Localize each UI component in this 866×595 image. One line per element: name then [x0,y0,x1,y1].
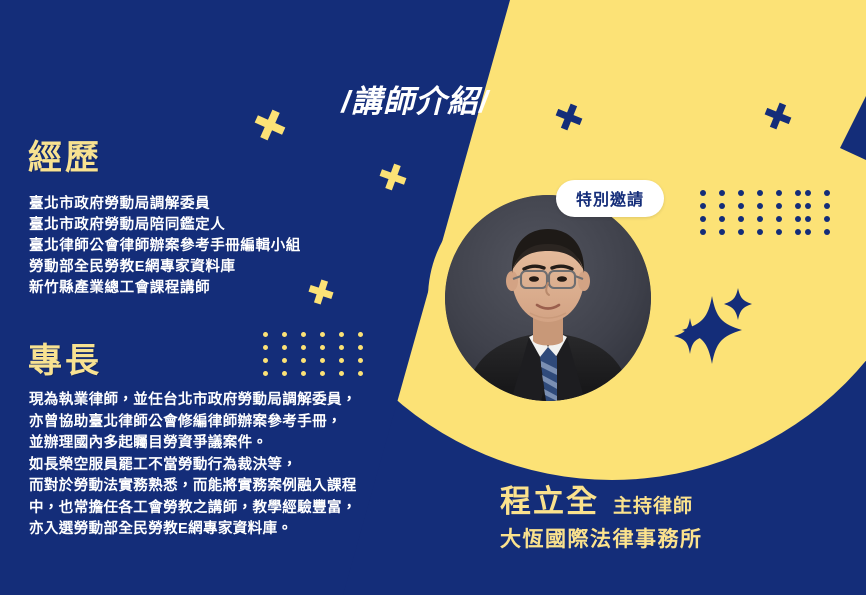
list-item: 新竹縣產業總工會課程講師 [29,278,301,299]
plus-cross-icon [554,102,584,132]
dot [795,190,801,196]
dot [824,216,830,222]
list-item: 勞動部全民勞教E網專家資料庫 [29,257,301,278]
dot [738,190,744,196]
sparkle-star-icon [674,288,752,364]
dot [824,190,830,196]
left-content-column: 經歷 臺北市政府勞動局調解委員臺北市政府勞動局陪同鑑定人臺北律師公會律師辦案參考… [0,0,450,595]
speaker-photo [445,195,651,401]
dot [776,203,782,209]
specialty-line: 亦入選勞動部全民勞教E網專家資料庫。 [29,519,357,541]
status-badge: 特別邀請 [556,180,664,217]
triangle-wedge-shape [840,96,866,160]
specialty-line: 中，也常擔任各工會勞教之講師，教學經驗豐富， [29,498,357,520]
specialty-line: 如長榮空服員罷工不當勞動行為裁決等， [29,455,357,477]
dot [757,190,763,196]
specialty-line: 現為執業律師，並任台北市政府勞動局調解委員， [29,390,357,412]
dot [719,229,725,235]
dot-grid-navy-small [805,190,835,240]
specialty-paragraph: 現為執業律師，並任台北市政府勞動局調解委員，亦曾協助臺北律師公會修編律師辦案參考… [29,390,357,541]
specialty-line: 亦曾協助臺北律師公會修編律師辦案參考手冊， [29,412,357,434]
dot [805,216,811,222]
dot [805,229,811,235]
dot-grid-navy [700,190,816,240]
dot [700,203,706,209]
dot [795,216,801,222]
speaker-role: 主持律師 [613,491,693,518]
dot [700,229,706,235]
experience-list: 臺北市政府勞動局調解委員臺北市政府勞動局陪同鑑定人臺北律師公會律師辦案參考手冊編… [29,194,301,299]
specialty-line: 並辦理國內多起矚目勞資爭議案件。 [29,433,357,455]
dot [776,190,782,196]
dot [757,216,763,222]
dot [719,190,725,196]
dot [824,203,830,209]
list-item: 臺北市政府勞動局陪同鑑定人 [29,215,301,236]
speaker-info: 程立全 主持律師 大恆國際法律事務所 [500,476,703,553]
list-item: 臺北律師公會律師辦案參考手冊編輯小組 [29,236,301,257]
speaker-name: 程立全 [500,476,599,521]
specialty-line: 而對於勞動法實務熟悉，而能將實務案例融入課程 [29,476,357,498]
avatar [445,195,651,401]
dot [719,203,725,209]
dot [738,216,744,222]
dot [824,229,830,235]
slide-canvas: /講師介紹/ 經歷 臺北市政府勞動局調解委員臺北市政府勞動局陪同鑑定人臺北律師公… [0,0,866,595]
plus-cross-icon [763,101,793,131]
dot [776,216,782,222]
dot [795,203,801,209]
dot [700,216,706,222]
dot [805,203,811,209]
dot [700,190,706,196]
dot [805,190,811,196]
dot [757,229,763,235]
dot [776,229,782,235]
dot [738,203,744,209]
experience-heading: 經歷 [28,130,102,179]
list-item: 臺北市政府勞動局調解委員 [29,194,301,215]
specialty-heading: 專長 [28,333,102,382]
dot [719,216,725,222]
dot [795,229,801,235]
dot [757,203,763,209]
speaker-firm: 大恆國際法律事務所 [500,523,703,553]
dot [738,229,744,235]
